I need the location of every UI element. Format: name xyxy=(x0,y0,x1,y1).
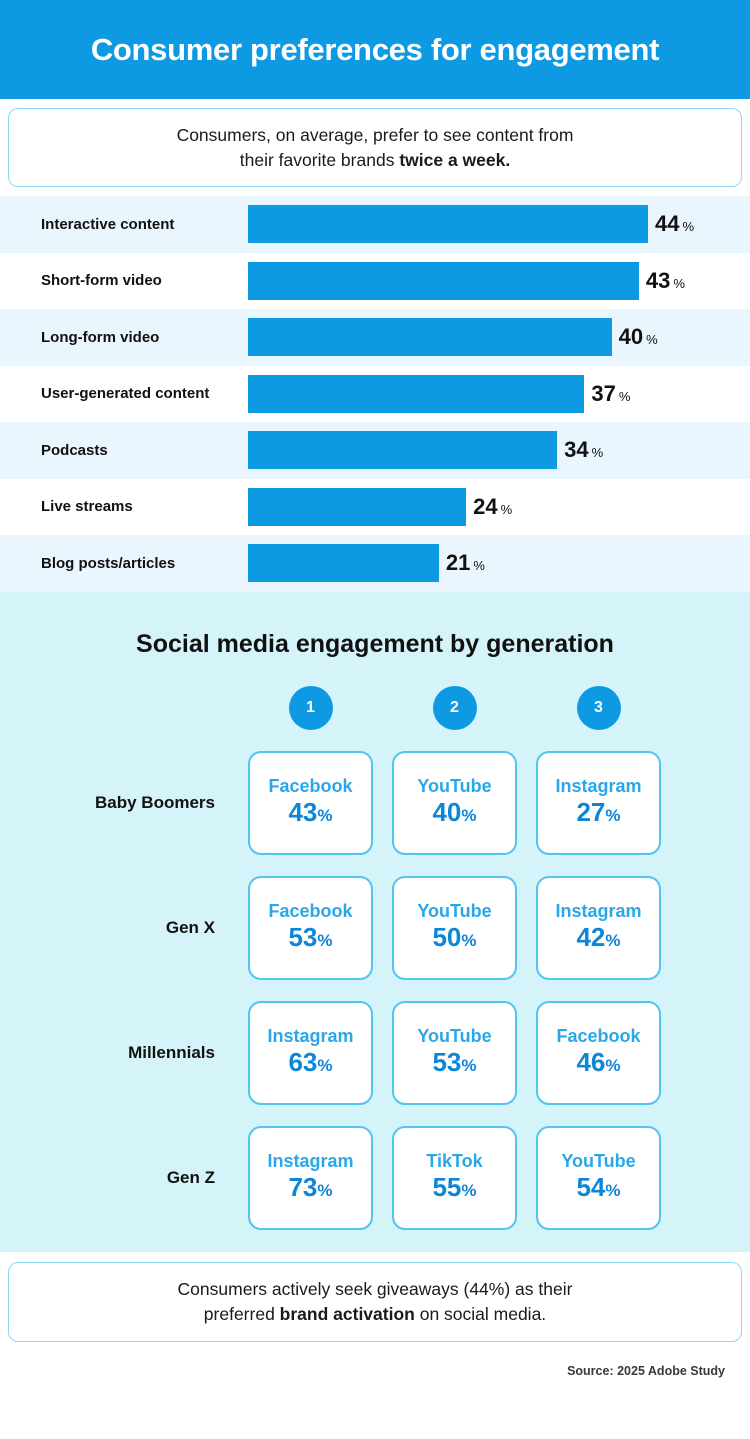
platform-name: Facebook xyxy=(268,777,352,797)
percent-sign: % xyxy=(317,1181,332,1200)
platform-card[interactable]: Facebook46% xyxy=(536,1001,661,1105)
platform-name: YouTube xyxy=(561,1152,635,1172)
bar-track: 43% xyxy=(248,253,750,310)
platform-card[interactable]: YouTube54% xyxy=(536,1126,661,1230)
generation-row: Baby BoomersFacebook43%YouTube40%Instagr… xyxy=(0,751,750,855)
bar-category-label: Long-form video xyxy=(0,329,248,346)
percent-sign: % xyxy=(605,1056,620,1075)
platform-percentage: 43% xyxy=(288,798,332,828)
bar-value-number: 40 xyxy=(619,324,643,349)
bottom-callout-line2-suffix: on social media. xyxy=(415,1304,546,1324)
bottom-callout-line1: Consumers actively seek giveaways (44%) … xyxy=(178,1279,573,1299)
platform-name: Instagram xyxy=(267,1027,353,1047)
bar-fill xyxy=(248,375,584,413)
platform-percentage-number: 40 xyxy=(432,797,461,827)
bar-fill xyxy=(248,205,648,243)
generation-label: Gen Z xyxy=(0,1168,248,1188)
bar-row: Podcasts34% xyxy=(0,422,750,479)
generation-row: Gen ZInstagram73%TikTok55%YouTube54% xyxy=(0,1126,750,1230)
platform-name: YouTube xyxy=(417,777,491,797)
rank-badge-1: 1 xyxy=(289,686,333,730)
top-callout-line1: Consumers, on average, prefer to see con… xyxy=(177,125,574,145)
bar-category-label: Podcasts xyxy=(0,442,248,459)
bar-track: 24% xyxy=(248,479,750,536)
percent-sign: % xyxy=(317,931,332,950)
rank-cell: 2 xyxy=(392,686,517,730)
bar-fill xyxy=(248,431,557,469)
bar-fill xyxy=(248,318,612,356)
rank-cell: 3 xyxy=(536,686,661,730)
platform-card-group: Instagram63%YouTube53%Facebook46% xyxy=(248,1001,680,1105)
bar-track: 34% xyxy=(248,422,750,479)
platform-percentage: 73% xyxy=(288,1173,332,1203)
platform-percentage-number: 63 xyxy=(288,1047,317,1077)
bottom-callout-line2-bold: brand activation xyxy=(280,1304,415,1324)
bar-category-label: Short-form video xyxy=(0,272,248,289)
bar-value-number: 21 xyxy=(446,550,470,575)
bar-track: 21% xyxy=(248,535,750,592)
percent-sign: % xyxy=(605,806,620,825)
bar-category-label: Live streams xyxy=(0,498,248,515)
bar-value-label: 24% xyxy=(473,494,512,520)
platform-percentage: 55% xyxy=(432,1173,476,1203)
platform-card[interactable]: YouTube50% xyxy=(392,876,517,980)
rank-cell: 1 xyxy=(248,686,373,730)
platform-percentage-number: 50 xyxy=(432,922,461,952)
platform-name: TikTok xyxy=(426,1152,482,1172)
preferences-bar-chart: Interactive content44%Short-form video43… xyxy=(0,196,750,592)
percent-sign: % xyxy=(317,1056,332,1075)
bar-value-label: 34% xyxy=(564,437,603,463)
percent-sign: % xyxy=(673,276,685,291)
platform-percentage: 42% xyxy=(576,923,620,953)
bar-fill xyxy=(248,544,439,582)
bar-row: Blog posts/articles21% xyxy=(0,535,750,592)
platform-card-group: Facebook43%YouTube40%Instagram27% xyxy=(248,751,680,855)
generation-rows: Baby BoomersFacebook43%YouTube40%Instagr… xyxy=(0,751,750,1230)
percent-sign: % xyxy=(646,332,658,347)
platform-percentage-number: 54 xyxy=(576,1172,605,1202)
percent-sign: % xyxy=(605,1181,620,1200)
generation-label: Millennials xyxy=(0,1043,248,1063)
platform-percentage: 27% xyxy=(576,798,620,828)
platform-card-group: Instagram73%TikTok55%YouTube54% xyxy=(248,1126,680,1230)
platform-card[interactable]: Facebook43% xyxy=(248,751,373,855)
bar-track: 44% xyxy=(248,196,750,253)
bottom-callout-box: Consumers actively seek giveaways (44%) … xyxy=(8,1262,742,1342)
bar-row: Interactive content44% xyxy=(0,196,750,253)
platform-name: YouTube xyxy=(417,902,491,922)
percent-sign: % xyxy=(461,931,476,950)
bar-row: Short-form video43% xyxy=(0,253,750,310)
top-callout-text: Consumers, on average, prefer to see con… xyxy=(177,123,574,173)
percent-sign: % xyxy=(619,389,631,404)
bar-value-label: 37% xyxy=(591,381,630,407)
platform-percentage: 46% xyxy=(576,1048,620,1078)
bar-value-label: 43% xyxy=(646,268,685,294)
platform-percentage-number: 53 xyxy=(432,1047,461,1077)
percent-sign: % xyxy=(592,445,604,460)
platform-percentage: 53% xyxy=(432,1048,476,1078)
percent-sign: % xyxy=(317,806,332,825)
rank-badge-row: 123 xyxy=(0,686,750,730)
top-callout-box: Consumers, on average, prefer to see con… xyxy=(8,108,742,187)
percent-sign: % xyxy=(461,1181,476,1200)
platform-card[interactable]: TikTok55% xyxy=(392,1126,517,1230)
social-section-title: Social media engagement by generation xyxy=(0,592,750,659)
platform-card[interactable]: Instagram27% xyxy=(536,751,661,855)
bar-value-number: 37 xyxy=(591,381,615,406)
page-title: Consumer preferences for engagement xyxy=(91,32,659,68)
bar-track: 37% xyxy=(248,366,750,423)
platform-card[interactable]: YouTube40% xyxy=(392,751,517,855)
bar-row: User-generated content37% xyxy=(0,366,750,423)
percent-sign: % xyxy=(605,931,620,950)
platform-percentage-number: 42 xyxy=(576,922,605,952)
rank-badge-3: 3 xyxy=(577,686,621,730)
bar-category-label: User-generated content xyxy=(0,385,248,402)
platform-percentage: 63% xyxy=(288,1048,332,1078)
percent-sign: % xyxy=(501,502,513,517)
bar-value-label: 21% xyxy=(446,550,485,576)
platform-name: YouTube xyxy=(417,1027,491,1047)
platform-name: Facebook xyxy=(268,902,352,922)
platform-percentage-number: 55 xyxy=(432,1172,461,1202)
platform-percentage: 53% xyxy=(288,923,332,953)
bottom-callout-line2-prefix: preferred xyxy=(204,1304,280,1324)
header-banner: Consumer preferences for engagement xyxy=(0,0,750,99)
infographic-page: Consumer preferences for engagement Cons… xyxy=(0,0,750,1439)
platform-name: Instagram xyxy=(555,902,641,922)
social-media-section: Social media engagement by generation 12… xyxy=(0,592,750,1252)
platform-card[interactable]: Instagram63% xyxy=(248,1001,373,1105)
generation-row: Gen XFacebook53%YouTube50%Instagram42% xyxy=(0,876,750,980)
platform-percentage-number: 46 xyxy=(576,1047,605,1077)
bar-row: Live streams24% xyxy=(0,479,750,536)
bar-value-number: 43 xyxy=(646,268,670,293)
platform-card[interactable]: Instagram42% xyxy=(536,876,661,980)
platform-percentage-number: 73 xyxy=(288,1172,317,1202)
generation-label: Gen X xyxy=(0,918,248,938)
bar-value-number: 24 xyxy=(473,494,497,519)
platform-card[interactable]: Instagram73% xyxy=(248,1126,373,1230)
percent-sign: % xyxy=(473,558,485,573)
platform-percentage-number: 43 xyxy=(288,797,317,827)
platform-percentage: 50% xyxy=(432,923,476,953)
platform-card[interactable]: Facebook53% xyxy=(248,876,373,980)
bar-fill xyxy=(248,488,466,526)
top-callout-line2-prefix: their favorite brands xyxy=(240,150,400,170)
top-callout-line2-bold: twice a week. xyxy=(399,150,510,170)
percent-sign: % xyxy=(461,1056,476,1075)
bar-value-number: 34 xyxy=(564,437,588,462)
bar-track: 40% xyxy=(248,309,750,366)
bottom-callout-text: Consumers actively seek giveaways (44%) … xyxy=(178,1277,573,1327)
platform-percentage: 40% xyxy=(432,798,476,828)
bar-value-label: 44% xyxy=(655,211,694,237)
bar-fill xyxy=(248,262,639,300)
platform-name: Instagram xyxy=(555,777,641,797)
platform-percentage-number: 27 xyxy=(576,797,605,827)
platform-percentage-number: 53 xyxy=(288,922,317,952)
bar-category-label: Blog posts/articles xyxy=(0,555,248,572)
rank-badge-2: 2 xyxy=(433,686,477,730)
platform-card[interactable]: YouTube53% xyxy=(392,1001,517,1105)
bar-row: Long-form video40% xyxy=(0,309,750,366)
percent-sign: % xyxy=(682,219,694,234)
platform-name: Instagram xyxy=(267,1152,353,1172)
bar-value-label: 40% xyxy=(619,324,658,350)
platform-name: Facebook xyxy=(556,1027,640,1047)
platform-card-group: Facebook53%YouTube50%Instagram42% xyxy=(248,876,680,980)
generation-label: Baby Boomers xyxy=(0,793,248,813)
percent-sign: % xyxy=(461,806,476,825)
generation-row: MillennialsInstagram63%YouTube53%Faceboo… xyxy=(0,1001,750,1105)
platform-percentage: 54% xyxy=(576,1173,620,1203)
source-note: Source: 2025 Adobe Study xyxy=(0,1342,750,1378)
bar-value-number: 44 xyxy=(655,211,679,236)
bar-category-label: Interactive content xyxy=(0,216,248,233)
